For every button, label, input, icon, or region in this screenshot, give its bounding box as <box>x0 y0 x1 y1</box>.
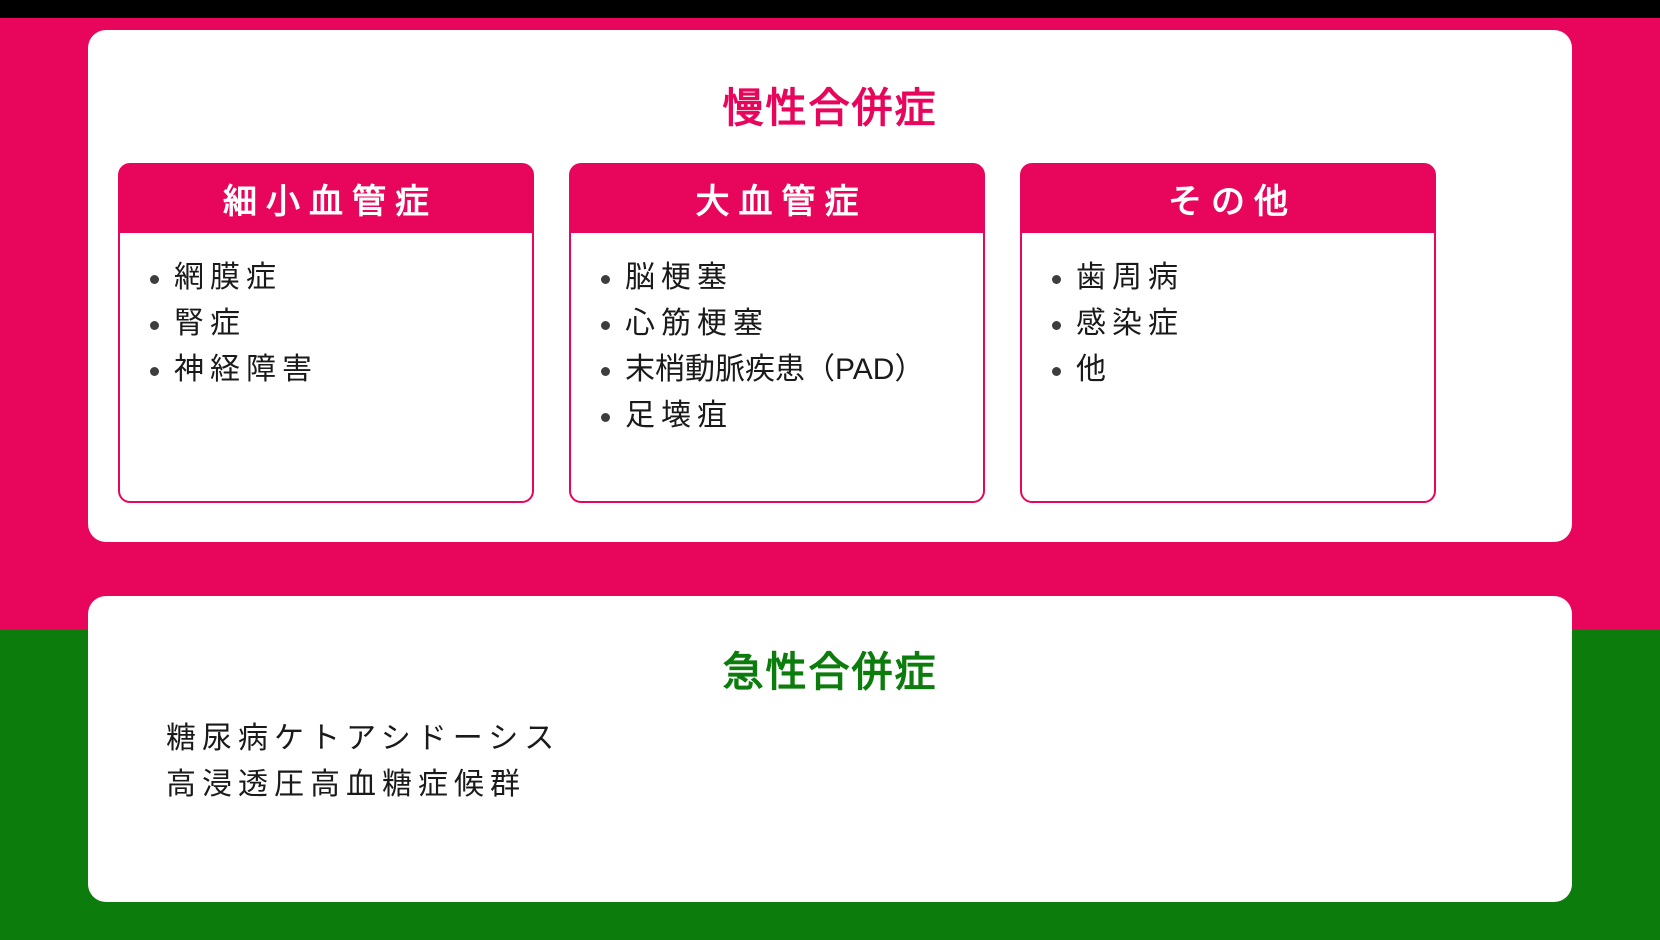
chronic-card-row: 細小血管症 網膜症 腎症 神経障害 大血管症 脳梗塞 心筋梗塞 末梢動脈疾患（P… <box>118 163 1538 503</box>
card-macrovascular: 大血管症 脳梗塞 心筋梗塞 末梢動脈疾患（PAD） 足壊疽 <box>569 163 985 503</box>
list-item: 神経障害 <box>136 347 532 393</box>
list-item: 他 <box>1038 347 1434 393</box>
list-item: 糖尿病ケトアシドーシス <box>166 716 560 762</box>
card-other-header: その他 <box>1020 163 1436 233</box>
card-microvascular-header: 細小血管症 <box>118 163 534 233</box>
list-item: 歯周病 <box>1038 255 1434 301</box>
card-other-list: 歯周病 感染症 他 <box>1022 255 1434 393</box>
card-other-body: 歯周病 感染症 他 <box>1020 233 1436 503</box>
acute-complication-list: 糖尿病ケトアシドーシス 高浸透圧高血糖症候群 <box>166 716 560 808</box>
card-other: その他 歯周病 感染症 他 <box>1020 163 1436 503</box>
list-item: 高浸透圧高血糖症候群 <box>166 762 560 808</box>
card-macrovascular-body: 脳梗塞 心筋梗塞 末梢動脈疾患（PAD） 足壊疽 <box>569 233 985 503</box>
card-microvascular: 細小血管症 網膜症 腎症 神経障害 <box>118 163 534 503</box>
top-black-bar <box>0 0 1660 18</box>
list-item: 腎症 <box>136 301 532 347</box>
list-item: 心筋梗塞 <box>587 301 983 347</box>
card-macrovascular-header: 大血管症 <box>569 163 985 233</box>
chronic-section-title: 慢性合併症 <box>0 74 1660 134</box>
list-item: 足壊疽 <box>587 393 983 439</box>
list-item: 網膜症 <box>136 255 532 301</box>
acute-section-title: 急性合併症 <box>0 638 1660 698</box>
list-item: 脳梗塞 <box>587 255 983 301</box>
card-macrovascular-list: 脳梗塞 心筋梗塞 末梢動脈疾患（PAD） 足壊疽 <box>571 255 983 439</box>
diagram-canvas: 慢性合併症 細小血管症 網膜症 腎症 神経障害 大血管症 脳梗塞 心筋梗塞 末梢… <box>0 0 1660 940</box>
card-microvascular-body: 網膜症 腎症 神経障害 <box>118 233 534 503</box>
card-microvascular-list: 網膜症 腎症 神経障害 <box>120 255 532 393</box>
list-item: 末梢動脈疾患（PAD） <box>587 347 983 393</box>
list-item: 感染症 <box>1038 301 1434 347</box>
